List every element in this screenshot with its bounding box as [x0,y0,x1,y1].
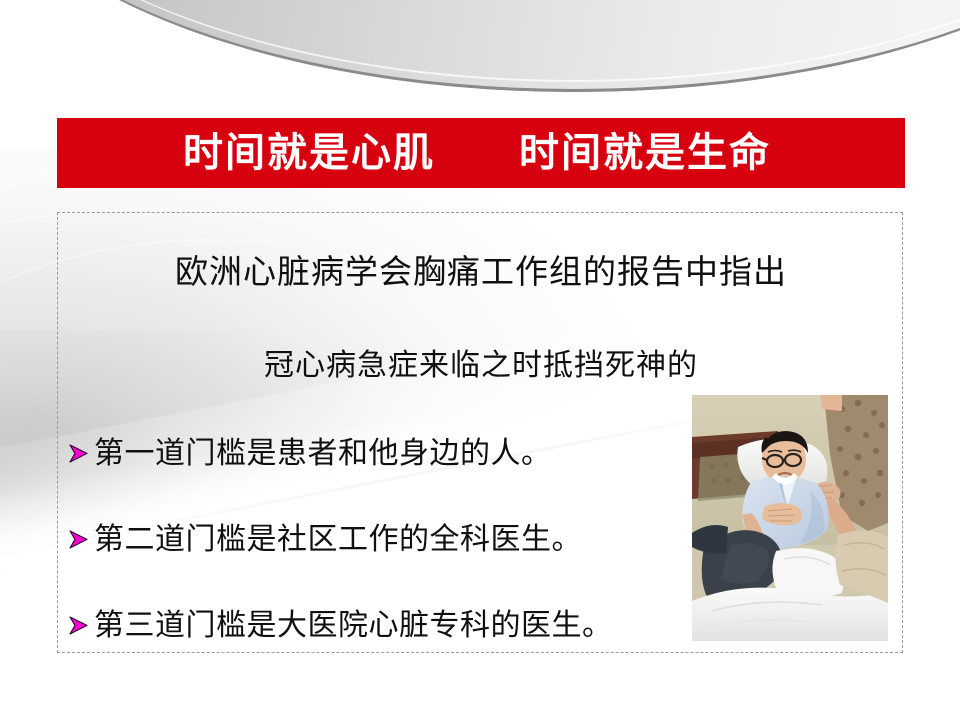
bullet-item-3: 第三道门槛是大医院心脏专科的医生。 [66,611,613,641]
photo-illustration [692,395,888,641]
heading-line-2: 冠心病急症来临之时抵挡死神的 [58,351,904,381]
arrow-bullet-icon [66,527,92,553]
page-title: 时间就是心肌 时间就是生命 [183,133,771,173]
bullet-label-3: 第三道门槛是大医院心脏专科的医生。 [94,611,613,641]
bullet-label-2: 第二道门槛是社区工作的全科医生。 [94,525,582,555]
heading-line-1: 欧洲心脏病学会胸痛工作组的报告中指出 [58,257,904,290]
header-swoosh-shape [0,0,960,90]
arrow-bullet-icon [66,613,92,639]
header-swoosh-highlight [0,0,960,82]
patient-chest-pain-photo [692,395,888,641]
bullet-label-1: 第一道门槛是患者和他身边的人。 [94,439,552,469]
header-swoosh-edge [0,0,960,92]
bullet-item-1: 第一道门槛是患者和他身边的人。 [66,439,552,469]
arrow-bullet-icon [66,441,92,467]
slide-canvas: 时间就是心肌 时间就是生命 欧洲心脏病学会胸痛工作组的报告中指出 冠心病急症来临… [0,0,960,720]
bullet-item-2: 第二道门槛是社区工作的全科医生。 [66,525,582,555]
title-banner: 时间就是心肌 时间就是生命 [57,118,905,188]
